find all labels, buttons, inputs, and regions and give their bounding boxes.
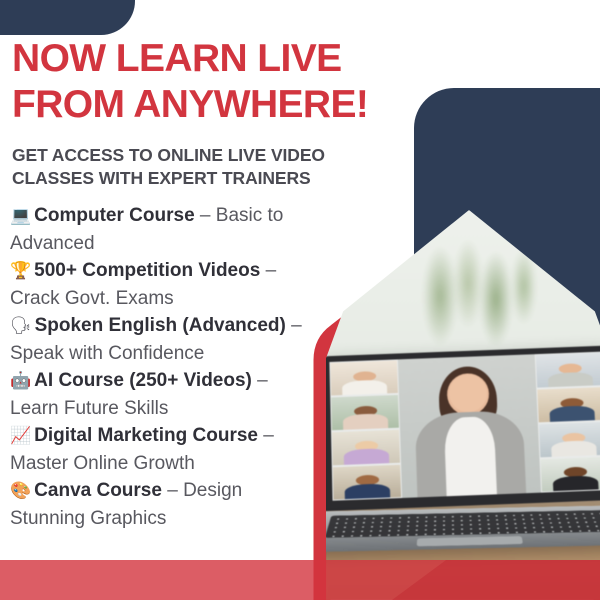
- list-item: 🗣Spoken English (Advanced) – Speak with …: [10, 312, 310, 367]
- promo-poster: NOW LEARN LIVE FROM ANYWHERE! GET ACCESS…: [0, 0, 600, 600]
- course-title: Digital Marketing Course: [34, 425, 258, 446]
- course-title: Canva Course: [34, 480, 162, 501]
- list-item: 🏆500+ Competition Videos – Crack Govt. E…: [10, 257, 310, 312]
- laptop-emoji-icon: 💻: [10, 206, 31, 226]
- list-item: 🎨Canva Course – Design Stunning Graphics: [10, 477, 310, 532]
- course-list: 💻Computer Course – Basic to Advanced 🏆50…: [10, 202, 310, 532]
- page-title: NOW LEARN LIVE FROM ANYWHERE!: [12, 36, 412, 128]
- artist-palette-emoji-icon: 🎨: [10, 481, 31, 501]
- course-title: Computer Course: [34, 205, 194, 226]
- list-item: 📈Digital Marketing Course – Master Onlin…: [10, 422, 310, 477]
- speaking-head-emoji-icon: 🗣: [10, 316, 32, 336]
- text-content: NOW LEARN LIVE FROM ANYWHERE! GET ACCESS…: [0, 0, 600, 600]
- course-title: AI Course (250+ Videos): [34, 370, 252, 391]
- chart-increasing-emoji-icon: 📈: [10, 426, 31, 446]
- list-item: 🤖AI Course (250+ Videos) – Learn Future …: [10, 367, 310, 422]
- subheadline: GET ACCESS TO ONLINE LIVE VIDEO CLASSES …: [12, 144, 372, 190]
- course-title: Spoken English (Advanced): [35, 315, 286, 336]
- robot-emoji-icon: 🤖: [10, 371, 31, 391]
- list-item: 💻Computer Course – Basic to Advanced: [10, 202, 310, 257]
- course-title: 500+ Competition Videos: [34, 260, 260, 281]
- headline-line-2: FROM ANYWHERE!: [12, 82, 412, 128]
- trophy-emoji-icon: 🏆: [10, 261, 31, 281]
- headline-line-1: NOW LEARN LIVE: [12, 37, 342, 80]
